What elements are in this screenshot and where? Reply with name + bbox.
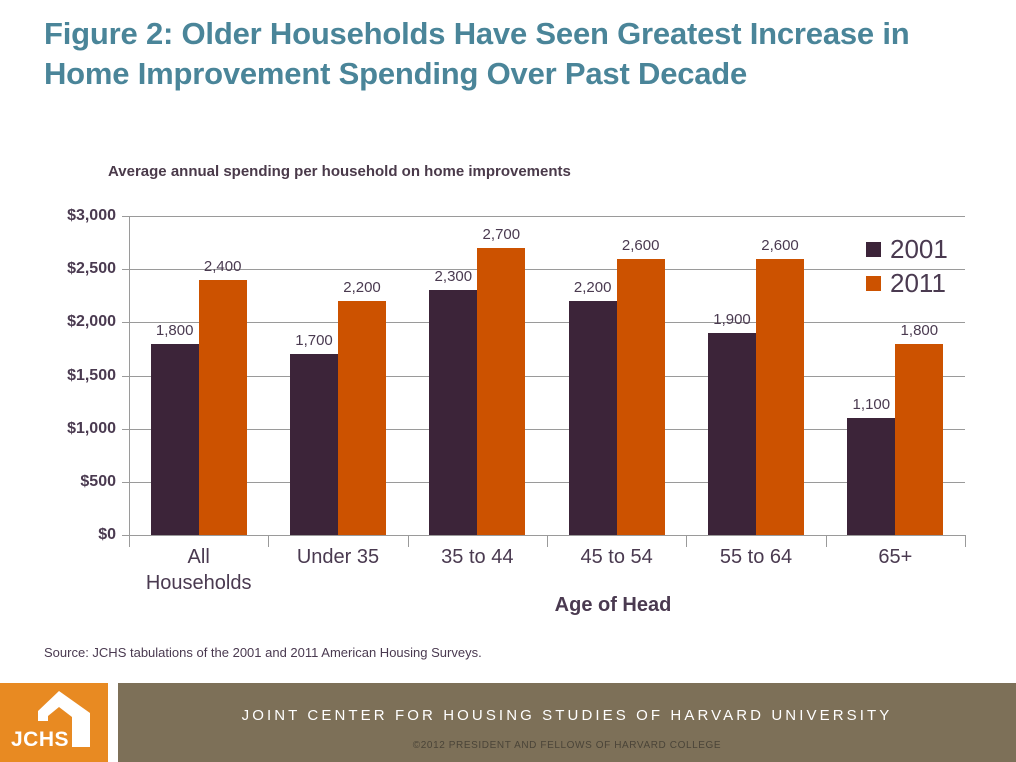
y-axis-labels: $0$500$1,000$1,500$2,000$2,500$3,000 bbox=[36, 0, 116, 640]
bar-value-label-2011: 2,600 bbox=[761, 237, 799, 254]
legend-label: 2001 bbox=[890, 236, 948, 262]
x-axis-separator bbox=[686, 535, 687, 547]
y-axis-tick-label: $3,000 bbox=[36, 207, 116, 225]
x-axis-separator bbox=[129, 535, 130, 547]
bar-2011[interactable] bbox=[756, 259, 804, 535]
bar-2011[interactable] bbox=[477, 248, 525, 535]
page-footer: JCHS JOINT CENTER FOR HOUSING STUDIES OF… bbox=[0, 683, 1016, 762]
footer-copyright: ©2012 PRESIDENT AND FELLOWS OF HARVARD C… bbox=[118, 740, 1016, 751]
legend-swatch-icon bbox=[866, 242, 881, 257]
gridline bbox=[129, 216, 965, 217]
chart-legend: 20012011 bbox=[866, 232, 948, 300]
y-axis-tick-label: $1,500 bbox=[36, 367, 116, 385]
y-axis-tick bbox=[122, 429, 129, 430]
x-axis-category-label: 45 to 54 bbox=[581, 545, 653, 571]
bar-2011[interactable] bbox=[895, 344, 943, 535]
bar-2011[interactable] bbox=[199, 280, 247, 535]
y-axis-tick-label: $0 bbox=[36, 526, 116, 544]
y-axis-tick bbox=[122, 322, 129, 323]
x-axis-category-label: Under 35 bbox=[297, 545, 379, 571]
x-axis-separator bbox=[965, 535, 966, 547]
bar-2011[interactable] bbox=[617, 259, 665, 535]
x-axis-separator bbox=[826, 535, 827, 547]
bar-2001[interactable] bbox=[151, 344, 199, 535]
y-axis-tick bbox=[122, 269, 129, 270]
legend-item[interactable]: 2001 bbox=[866, 232, 948, 266]
y-axis-tick-label: $500 bbox=[36, 473, 116, 491]
bar-value-label-2011: 2,600 bbox=[622, 237, 660, 254]
bar-value-label-2001: 1,800 bbox=[156, 322, 194, 339]
source-note: Source: JCHS tabulations of the 2001 and… bbox=[44, 645, 482, 660]
legend-label: 2011 bbox=[890, 270, 946, 296]
y-axis-tick bbox=[122, 376, 129, 377]
x-axis-separator bbox=[268, 535, 269, 547]
y-axis-tick-label: $2,000 bbox=[36, 313, 116, 331]
bar-value-label-2001: 1,900 bbox=[713, 311, 751, 328]
gridline bbox=[129, 482, 965, 483]
gridline bbox=[129, 376, 965, 377]
x-axis-separator bbox=[547, 535, 548, 547]
legend-swatch-icon bbox=[866, 276, 881, 291]
bar-value-label-2001: 2,300 bbox=[435, 268, 473, 285]
y-axis-tick bbox=[122, 535, 129, 536]
bar-value-label-2001: 1,100 bbox=[853, 396, 891, 413]
y-axis-tick-label: $1,000 bbox=[36, 420, 116, 438]
gridline bbox=[129, 429, 965, 430]
bar-value-label-2011: 2,700 bbox=[483, 226, 521, 243]
y-axis-tick-label: $2,500 bbox=[36, 260, 116, 278]
bar-2001[interactable] bbox=[290, 354, 338, 535]
bar-value-label-2001: 2,200 bbox=[574, 279, 612, 296]
footer-org-name: JOINT CENTER FOR HOUSING STUDIES OF HARV… bbox=[118, 707, 1016, 724]
bar-2011[interactable] bbox=[338, 301, 386, 535]
footer-bar: JOINT CENTER FOR HOUSING STUDIES OF HARV… bbox=[118, 683, 1016, 762]
bar-value-label-2001: 1,700 bbox=[295, 332, 333, 349]
gridline bbox=[129, 269, 965, 270]
x-axis-category-label: 65+ bbox=[878, 545, 912, 571]
x-axis-title: Age of Head bbox=[555, 594, 672, 617]
bar-value-label-2011: 1,800 bbox=[901, 322, 939, 339]
gridline bbox=[129, 322, 965, 323]
bar-value-label-2011: 2,200 bbox=[343, 279, 381, 296]
plot-area: 1,8002,4001,7002,2002,3002,7002,2002,600… bbox=[129, 216, 965, 535]
x-axis-category-label: All Households bbox=[146, 545, 252, 596]
y-axis-tick bbox=[122, 216, 129, 217]
x-axis-category-label: 35 to 44 bbox=[441, 545, 513, 571]
bar-value-label-2011: 2,400 bbox=[204, 258, 242, 275]
bar-2001[interactable] bbox=[569, 301, 617, 535]
jchs-logo: JCHS bbox=[0, 683, 108, 762]
legend-item[interactable]: 2011 bbox=[866, 266, 948, 300]
bar-2001[interactable] bbox=[708, 333, 756, 535]
x-axis-separator bbox=[408, 535, 409, 547]
y-axis-tick bbox=[122, 482, 129, 483]
bar-2001[interactable] bbox=[429, 290, 477, 535]
bar-chart: $0$500$1,000$1,500$2,000$2,500$3,000 1,8… bbox=[0, 0, 1016, 640]
x-axis-category-label: 55 to 64 bbox=[720, 545, 792, 571]
bar-2001[interactable] bbox=[847, 418, 895, 535]
logo-text: JCHS bbox=[11, 728, 69, 752]
